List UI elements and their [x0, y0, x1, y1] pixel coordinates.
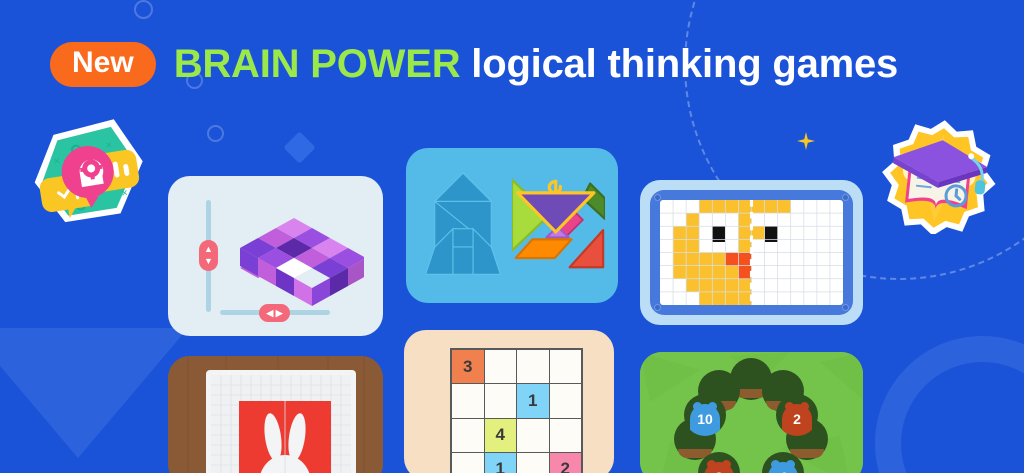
- screw-icon: [654, 304, 661, 311]
- rocket-silhouette: [422, 170, 504, 282]
- sparkle-star-icon: [797, 132, 815, 150]
- tangram-pieces[interactable]: [512, 178, 605, 271]
- sudoku-cell[interactable]: [485, 384, 517, 417]
- critter-number: 4: [762, 469, 804, 473]
- sudoku-cell[interactable]: 2: [550, 453, 582, 473]
- up-down-arrows-icon[interactable]: ▲ ▼: [199, 240, 218, 271]
- graduation-badge: 12: [872, 118, 1006, 234]
- critter-number: 8: [698, 469, 740, 473]
- sudoku-cell[interactable]: [550, 419, 582, 452]
- sudoku-cell[interactable]: 1: [485, 453, 517, 473]
- sudoku-cell[interactable]: [452, 419, 484, 452]
- screw-icon: [842, 194, 849, 201]
- decor-triangle: [0, 328, 188, 458]
- sudoku-cell[interactable]: [517, 419, 549, 452]
- decor-circle-3: [207, 125, 224, 142]
- sudoku-grid[interactable]: 3 1 4 1 2: [450, 348, 583, 473]
- sudoku-cell[interactable]: [452, 384, 484, 417]
- sudoku-cell[interactable]: [550, 384, 582, 417]
- isometric-cube-puzzle-card[interactable]: ▲ ▼ ◀ ▶: [168, 176, 383, 336]
- pixel-grid[interactable]: [660, 200, 843, 305]
- sudoku-cell[interactable]: 1: [517, 384, 549, 417]
- critter-number: 2: [776, 411, 818, 427]
- squirrel-critter[interactable]: 2: [776, 394, 818, 436]
- sudoku-cell[interactable]: [485, 350, 517, 383]
- pixel-art-symmetry-card[interactable]: [640, 180, 863, 325]
- sudoku-cell[interactable]: [550, 350, 582, 383]
- sudoku-cell[interactable]: [517, 350, 549, 383]
- title-rest: logical thinking games: [471, 42, 898, 86]
- screw-icon: [842, 304, 849, 311]
- bunny-cutout: [211, 375, 351, 473]
- sudoku-cell[interactable]: 4: [485, 419, 517, 452]
- isometric-cube-stack: [224, 206, 364, 306]
- decor-ring: [875, 336, 1024, 473]
- tablet-bezel: [650, 190, 853, 315]
- sudoku-cell[interactable]: [452, 453, 484, 473]
- decor-circle-1: [134, 0, 153, 19]
- title-highlight: BRAIN POWER: [174, 42, 461, 86]
- brain-thinking-badge: ×××: [18, 118, 158, 230]
- bird-critter[interactable]: 10: [684, 394, 726, 436]
- decor-diamond: [283, 131, 316, 164]
- paper-sheet: [206, 370, 356, 473]
- sudoku-card[interactable]: 3 1 4 1 2: [404, 330, 614, 473]
- critter-number: 10: [684, 411, 726, 427]
- page-title: BRAIN POWER logical thinking games: [174, 42, 898, 87]
- left-right-arrows-icon[interactable]: ◀ ▶: [259, 304, 290, 322]
- sudoku-cell[interactable]: 3: [452, 350, 484, 383]
- sudoku-cell[interactable]: [517, 453, 549, 473]
- banner-stage: New BRAIN POWER logical thinking games ×…: [0, 0, 1024, 473]
- new-badge: New: [50, 42, 156, 87]
- number-mole-game-card[interactable]: 10 2 8 4: [640, 352, 863, 473]
- paper-cutting-card[interactable]: [168, 356, 383, 473]
- tangram-puzzle-card[interactable]: [406, 148, 618, 303]
- headline: New BRAIN POWER logical thinking games: [50, 42, 898, 87]
